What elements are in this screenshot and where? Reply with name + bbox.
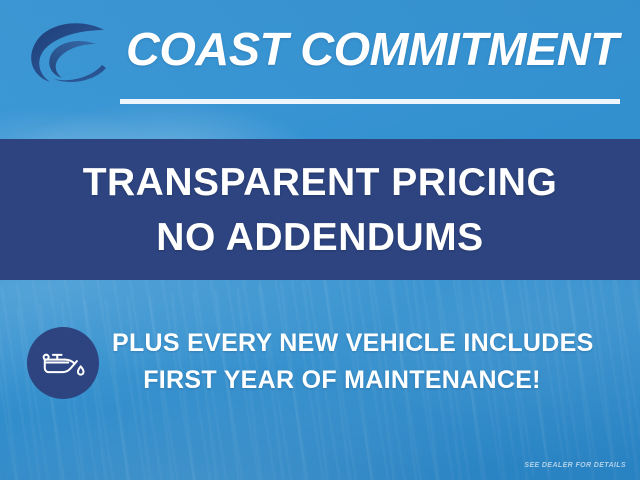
page-title: COAST COMMITMENT (126, 22, 636, 76)
wave-swirl-logo-icon (24, 18, 116, 92)
header-divider (120, 99, 620, 104)
banner-header: COAST COMMITMENT (0, 0, 640, 139)
disclaimer-text: SEE DEALER FOR DETAILS (524, 462, 626, 469)
pledge-band: TRANSPARENT PRICING NO ADDENDUMS (0, 139, 640, 280)
coast-commitment-banner: COAST COMMITMENT TRANSPARENT PRICING NO … (0, 0, 640, 480)
oil-can-icon (27, 327, 99, 399)
perk-line-2: FIRST YEAR OF MAINTENANCE! (112, 362, 572, 399)
perk-line-1: PLUS EVERY NEW VEHICLE INCLUDES (112, 325, 572, 362)
pledge-line-2: NO ADDENDUMS (156, 210, 483, 265)
pledge-line-1: TRANSPARENT PRICING (83, 155, 558, 210)
perk-row: PLUS EVERY NEW VEHICLE INCLUDES FIRST YE… (0, 325, 640, 403)
perk-text: PLUS EVERY NEW VEHICLE INCLUDES FIRST YE… (112, 325, 572, 399)
